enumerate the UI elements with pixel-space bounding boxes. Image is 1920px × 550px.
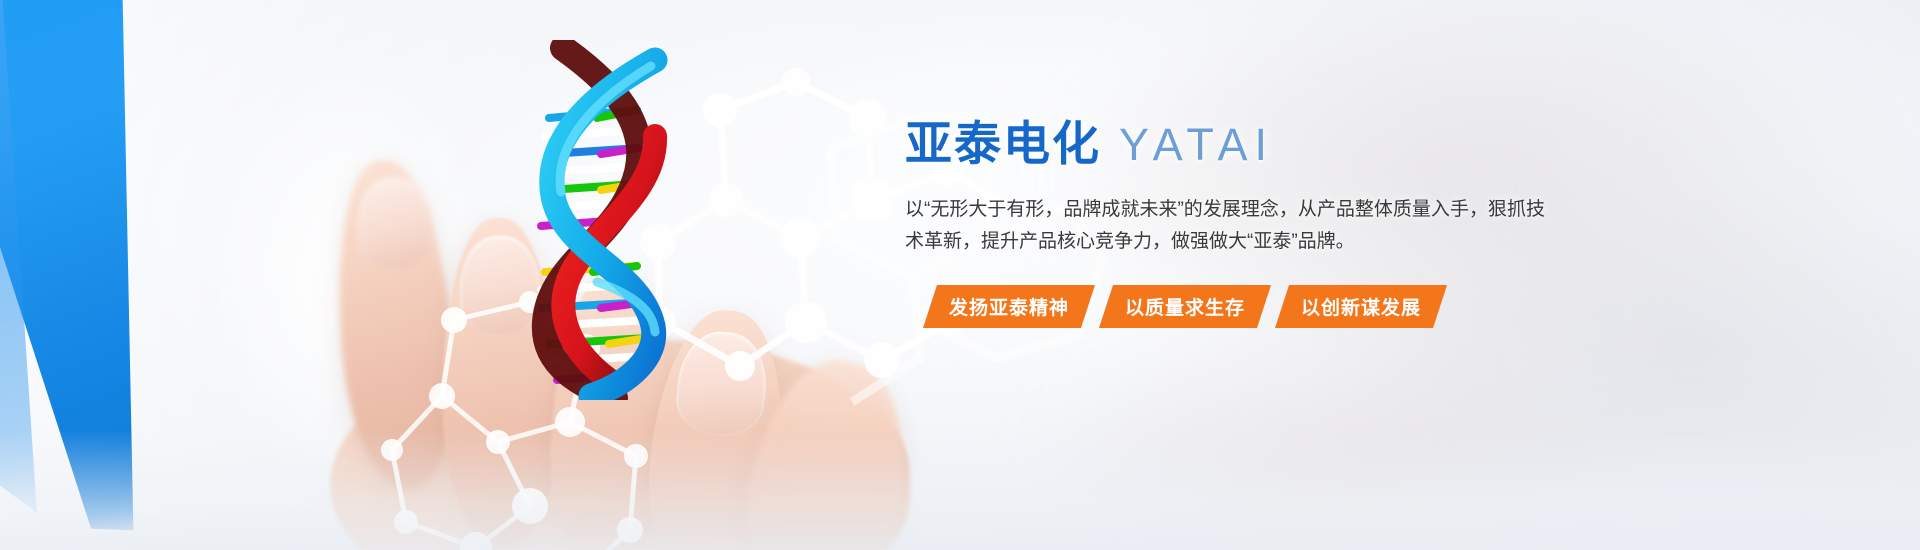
title-chinese: 亚泰电化 bbox=[905, 118, 1101, 170]
slogan-badge-2[interactable]: 以质量求生存 bbox=[1099, 285, 1271, 328]
banner-title: 亚泰电化 YATAI bbox=[905, 118, 1565, 170]
dna-svg bbox=[505, 40, 685, 400]
banner-description: 以“无形大于有形，品牌成就未来”的发展理念，从产品整体质量入手，狠抓技术革新，提… bbox=[905, 194, 1545, 259]
banner-content: 亚泰电化 YATAI 以“无形大于有形，品牌成就未来”的发展理念，从产品整体质量… bbox=[905, 118, 1565, 328]
bottom-fade-overlay bbox=[0, 430, 1920, 550]
hero-banner: 亚泰电化 YATAI 以“无形大于有形，品牌成就未来”的发展理念，从产品整体质量… bbox=[0, 0, 1920, 550]
title-english: YATAI bbox=[1119, 120, 1274, 170]
dna-double-helix bbox=[505, 40, 685, 400]
slogan-badge-1[interactable]: 发扬亚泰精神 bbox=[923, 285, 1095, 328]
slogan-badge-group: 发扬亚泰精神 以质量求生存 以创新谋发展 bbox=[905, 285, 1565, 328]
slogan-badge-3[interactable]: 以创新谋发展 bbox=[1275, 285, 1447, 328]
